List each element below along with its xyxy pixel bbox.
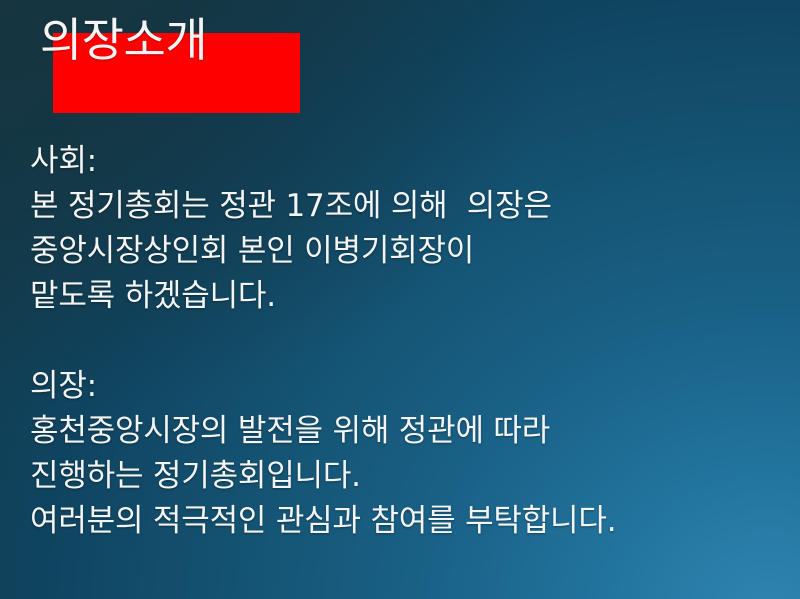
body-line: 홍천중앙시장의 발전을 위해 정관에 따라 [30, 409, 775, 454]
paragraph-moderator: 사회: 본 정기총회는 정관 17조에 의해 의장은 중앙시장상인회 본인 이병… [30, 139, 775, 319]
body-line: 의장: [30, 364, 775, 409]
paragraph-spacer [30, 319, 775, 364]
presentation-slide: 의장소개 사회: 본 정기총회는 정관 17조에 의해 의장은 중앙시장상인회 … [0, 0, 800, 599]
body-line: 여러분의 적극적인 관심과 참여를 부탁합니다. [30, 499, 775, 544]
paragraph-chairman: 의장: 홍천중앙시장의 발전을 위해 정관에 따라 진행하는 정기총회입니다. … [30, 364, 775, 544]
body-line: 맡도록 하겠습니다. [30, 274, 775, 319]
page-title: 의장소개 [0, 0, 247, 80]
slide-body: 사회: 본 정기총회는 정관 17조에 의해 의장은 중앙시장상인회 본인 이병… [30, 139, 775, 544]
body-line: 진행하는 정기총회입니다. [30, 454, 775, 499]
body-line: 사회: [30, 139, 775, 184]
body-line: 본 정기총회는 정관 17조에 의해 의장은 [30, 184, 775, 229]
body-line: 중앙시장상인회 본인 이병기회장이 [30, 229, 775, 274]
